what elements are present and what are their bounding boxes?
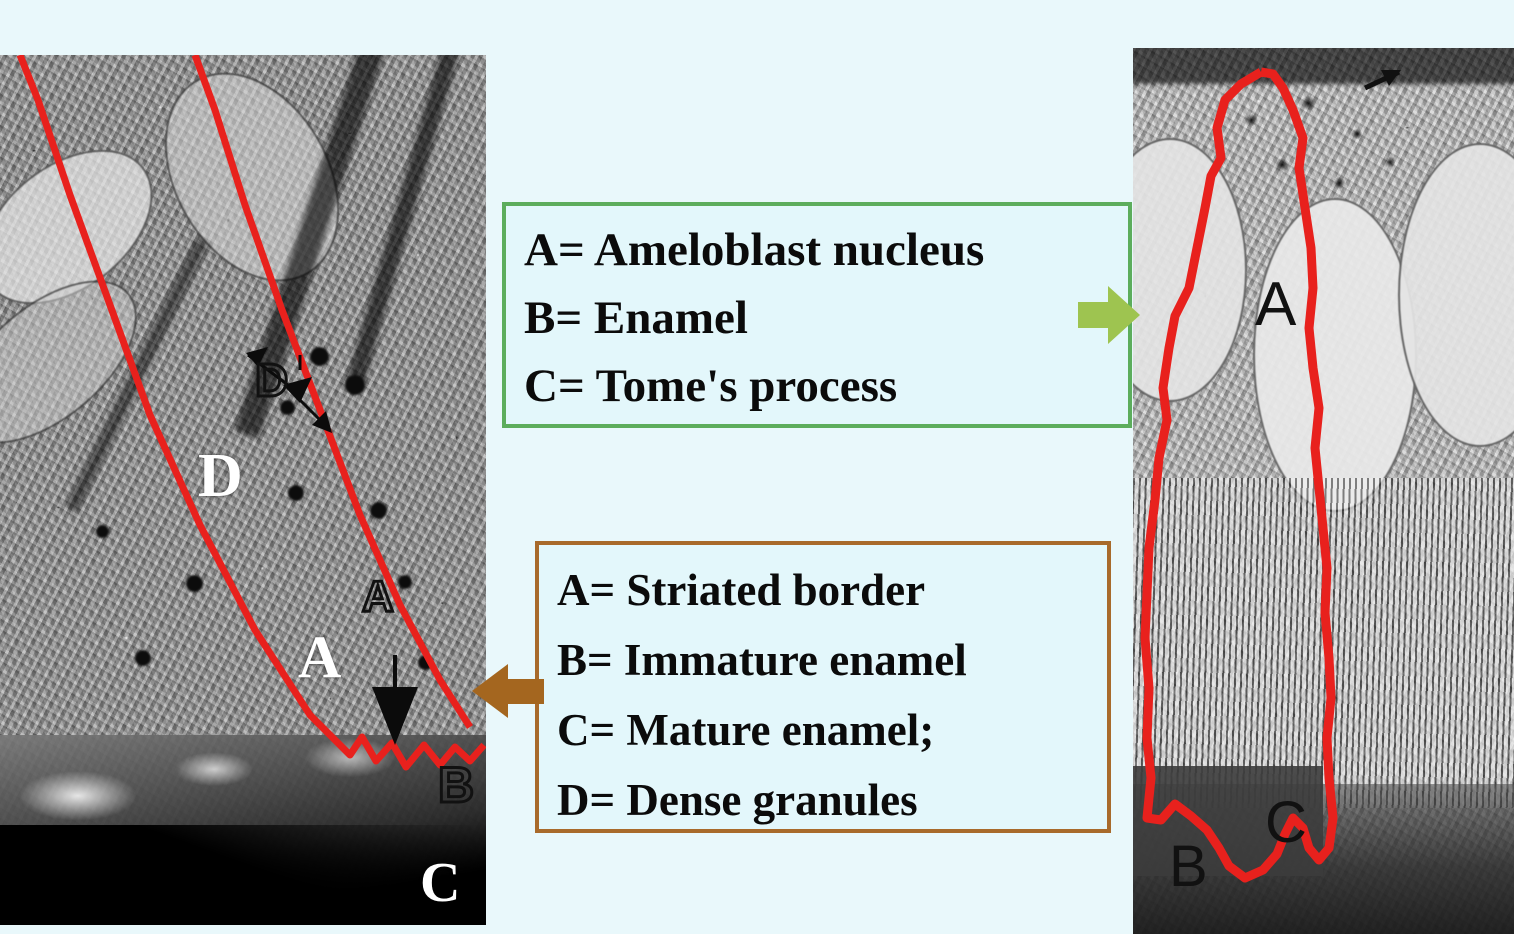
left-label-striated-a: A xyxy=(362,575,394,619)
dense-granule xyxy=(345,375,365,395)
legend-green-line-3: C= Tome's process xyxy=(524,352,1110,420)
micro-nucleus-a xyxy=(1253,198,1417,512)
mature-enamel-region xyxy=(0,825,486,925)
brown-arrow-head xyxy=(472,664,508,718)
dense-granule xyxy=(288,485,304,501)
left-label-b: B xyxy=(438,760,474,810)
left-label-a: A xyxy=(298,627,341,687)
green-right-arrow-icon xyxy=(1078,286,1140,344)
green-arrow-shaft xyxy=(1078,302,1112,328)
legend-brown-line-4: D= Dense granules xyxy=(557,765,1089,835)
legend-brown-line-3: C= Mature enamel; xyxy=(557,695,1089,765)
dense-granule xyxy=(398,575,412,589)
dense-granule xyxy=(418,655,433,670)
brown-arrow-shaft xyxy=(504,679,544,704)
legend-brown-line-1: A= Striated border xyxy=(557,555,1089,625)
striated-region xyxy=(1133,478,1514,808)
left-micrograph: D D A A B C xyxy=(0,55,486,925)
slide-canvas: D D A A B C A C B A= Ame xyxy=(0,0,1514,934)
legend-green-line-2: B= Enamel xyxy=(524,284,1110,352)
dense-granule xyxy=(310,347,329,366)
legend-green-line-1: A= Ameloblast nucleus xyxy=(524,216,1110,284)
right-label-a: A xyxy=(1255,274,1296,336)
right-label-c: C xyxy=(1265,794,1307,852)
brown-left-arrow-icon xyxy=(472,664,544,718)
legend-box-brown: A= Striated border B= Immature enamel C=… xyxy=(535,541,1111,833)
right-label-b: B xyxy=(1169,838,1208,896)
green-arrow-head xyxy=(1108,286,1140,344)
left-label-d: D xyxy=(198,445,243,507)
legend-brown-line-2: B= Immature enamel xyxy=(557,625,1089,695)
micro-organelles xyxy=(1203,78,1423,218)
right-micrograph: A C B xyxy=(1133,48,1514,934)
dense-granule xyxy=(96,525,109,538)
dense-granule xyxy=(370,502,387,519)
legend-box-green: A= Ameloblast nucleus B= Enamel C= Tome'… xyxy=(502,202,1132,428)
left-label-granule-d: D xyxy=(255,357,288,403)
dense-granule xyxy=(135,650,151,666)
dense-granule xyxy=(186,575,203,592)
left-label-c: C xyxy=(420,855,460,911)
